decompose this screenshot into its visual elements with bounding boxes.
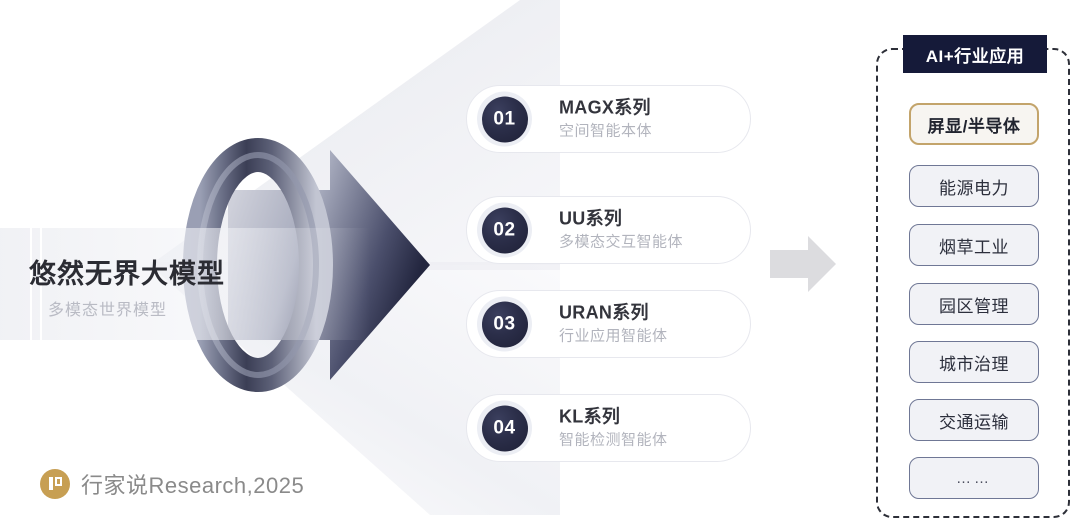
card-title: MAGX系列 <box>559 97 652 120</box>
industry-item-display-semiconductor[interactable]: 屏显/半导体 <box>909 103 1039 145</box>
card-subtitle: 行业应用智能体 <box>559 326 668 346</box>
industry-item-energy-power[interactable]: 能源电力 <box>909 165 1039 207</box>
industry-item-more[interactable]: …… <box>909 457 1039 499</box>
card-subtitle: 智能检测智能体 <box>559 430 668 450</box>
card-title: URAN系列 <box>559 302 668 325</box>
card-title: KL系列 <box>559 406 668 429</box>
card-badge-ring: 02 <box>477 203 532 258</box>
model-card-01[interactable]: 01 MAGX系列 空间智能本体 <box>466 85 751 153</box>
card-text: UU系列 多模态交互智能体 <box>559 208 683 253</box>
card-badge-ring: 03 <box>477 297 532 352</box>
industry-item-park-management[interactable]: 园区管理 <box>909 283 1039 325</box>
brand-logo-icon <box>40 469 70 499</box>
page-subtitle: 多模态世界模型 <box>48 296 167 320</box>
model-card-02[interactable]: 02 UU系列 多模态交互智能体 <box>466 196 751 264</box>
card-number: 01 <box>482 96 528 142</box>
model-card-03[interactable]: 03 URAN系列 行业应用智能体 <box>466 290 751 358</box>
card-title: UU系列 <box>559 208 683 231</box>
diagram-canvas: 悠然无界大模型 多模态世界模型 行家说Research,2025 01 MAGX… <box>0 0 1080 530</box>
card-text: KL系列 智能检测智能体 <box>559 406 668 451</box>
industry-item-city-governance[interactable]: 城市治理 <box>909 341 1039 383</box>
model-card-04[interactable]: 04 KL系列 智能检测智能体 <box>466 394 751 462</box>
card-subtitle: 空间智能本体 <box>559 121 652 141</box>
arrow-right-icon <box>768 232 838 296</box>
watermark-label: 行家说Research,2025 <box>81 468 304 500</box>
card-badge-ring: 04 <box>477 401 532 456</box>
card-subtitle: 多模态交互智能体 <box>559 232 683 252</box>
panel-header: AI+行业应用 <box>903 35 1047 73</box>
panel-header-label: AI+行业应用 <box>926 42 1024 67</box>
industry-item-tobacco-industry[interactable]: 烟草工业 <box>909 224 1039 266</box>
card-text: MAGX系列 空间智能本体 <box>559 97 652 142</box>
card-number: 03 <box>482 301 528 347</box>
card-number: 02 <box>482 207 528 253</box>
watermark: 行家说Research,2025 <box>40 468 304 500</box>
page-title: 悠然无界大模型 <box>29 252 225 291</box>
card-text: URAN系列 行业应用智能体 <box>559 302 668 347</box>
card-number: 04 <box>482 405 528 451</box>
card-badge-ring: 01 <box>477 92 532 147</box>
industry-item-transportation[interactable]: 交通运输 <box>909 399 1039 441</box>
